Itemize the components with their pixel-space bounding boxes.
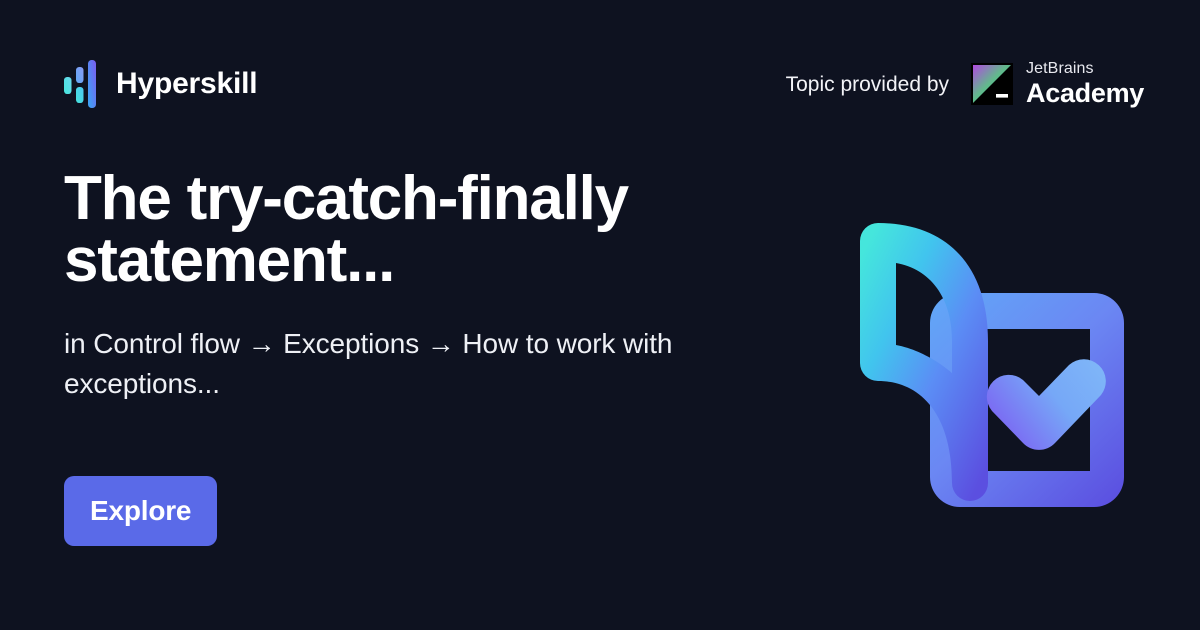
jetbrains-academy-wordmark: JetBrains Academy [1026, 61, 1144, 107]
hyperskill-brand-name: Hyperskill [116, 69, 257, 99]
academy-word: Academy [1026, 80, 1144, 107]
content-block: The try-catch-finally statement... in Co… [64, 168, 764, 546]
hyperskill-brand[interactable]: Hyperskill [64, 60, 257, 108]
open-book-with-checkmark-illustration-icon [842, 205, 1142, 525]
provider-block: Topic provided by [786, 61, 1144, 107]
jetbrains-word: JetBrains [1026, 61, 1144, 77]
page-title: The try-catch-finally statement... [64, 168, 704, 292]
header: Hyperskill Topic provided by [64, 56, 1144, 112]
jetbrains-academy-logo[interactable]: JetBrains Academy [971, 61, 1144, 107]
explore-button[interactable]: Explore [64, 476, 217, 546]
jetbrains-gradient-square-icon [971, 63, 1013, 105]
og-card: Hyperskill Topic provided by [0, 0, 1200, 630]
hyperskill-bars-logo-icon [64, 60, 98, 108]
provider-label: Topic provided by [786, 74, 949, 95]
breadcrumb-subtitle: in Control flow → Exceptions → How to wo… [64, 324, 724, 404]
